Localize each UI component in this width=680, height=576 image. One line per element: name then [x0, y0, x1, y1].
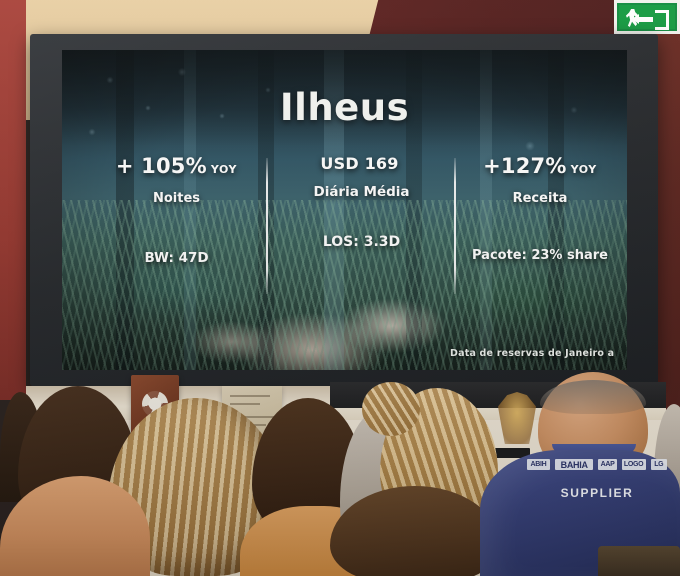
stat-value-receita: +127%YOY	[454, 154, 626, 178]
stat-footer-receita: Pacote: 23% share	[454, 248, 626, 263]
certificate-line	[230, 395, 270, 397]
hair-bun	[362, 382, 420, 436]
shirt-logo-4: LOGO	[622, 459, 646, 470]
presentation-screen: Ilheus + 105%YOY Noites BW: 47D USD 169 …	[62, 50, 627, 370]
stat-column-receita: +127%YOY Receita Pacote: 23% share	[454, 154, 626, 263]
arrow-right-icon	[639, 17, 653, 22]
certificate-line	[230, 403, 260, 405]
stat-number-diaria: USD 169	[320, 154, 398, 173]
chair-back	[598, 546, 680, 576]
exit-sign-panel	[619, 5, 675, 29]
stat-footer-diaria: LOS: 3.3D	[274, 234, 449, 250]
shirt-logo-row: ABIH BAHIA AAP LOGO LG	[527, 458, 667, 471]
stat-label-receita: Receita	[454, 191, 626, 206]
shirt-logo-1: ABIH	[527, 459, 550, 470]
shirt-supplier-text: SUPPLIER	[527, 486, 667, 500]
stat-footer-noites: BW: 47D	[84, 250, 269, 266]
stat-column-diaria-media: USD 169 Diária Média LOS: 3.3D	[274, 154, 449, 250]
stat-number-noites: + 105%	[116, 154, 207, 178]
stat-value-diaria: USD 169	[274, 154, 449, 173]
stat-label-noites: Noites	[84, 191, 269, 206]
shirt-logo-5: LG	[651, 459, 667, 470]
stat-value-noites: + 105%YOY	[84, 154, 269, 178]
shirt-logo-3: AAP	[598, 459, 616, 470]
stat-yoy-noites: YOY	[211, 163, 237, 176]
emergency-exit-sign	[614, 0, 680, 34]
gold-trophy	[498, 392, 536, 444]
stat-label-diaria: Diária Média	[274, 184, 449, 200]
slide-title: Ilheus	[62, 86, 627, 129]
wall-left-red	[0, 0, 26, 400]
shirt-logo-2: BAHIA	[555, 459, 593, 470]
stat-yoy-receita: YOY	[571, 163, 597, 176]
stat-column-noites: + 105%YOY Noites BW: 47D	[84, 154, 269, 266]
slide-stat-columns: + 105%YOY Noites BW: 47D USD 169 Diária …	[62, 154, 627, 334]
slide-source-note: Data de reservas de Janeiro a	[450, 348, 614, 359]
stat-number-receita: +127%	[483, 154, 566, 178]
conference-room-photo: Ilheus + 105%YOY Noites BW: 47D USD 169 …	[0, 0, 680, 576]
door-icon	[655, 10, 669, 30]
